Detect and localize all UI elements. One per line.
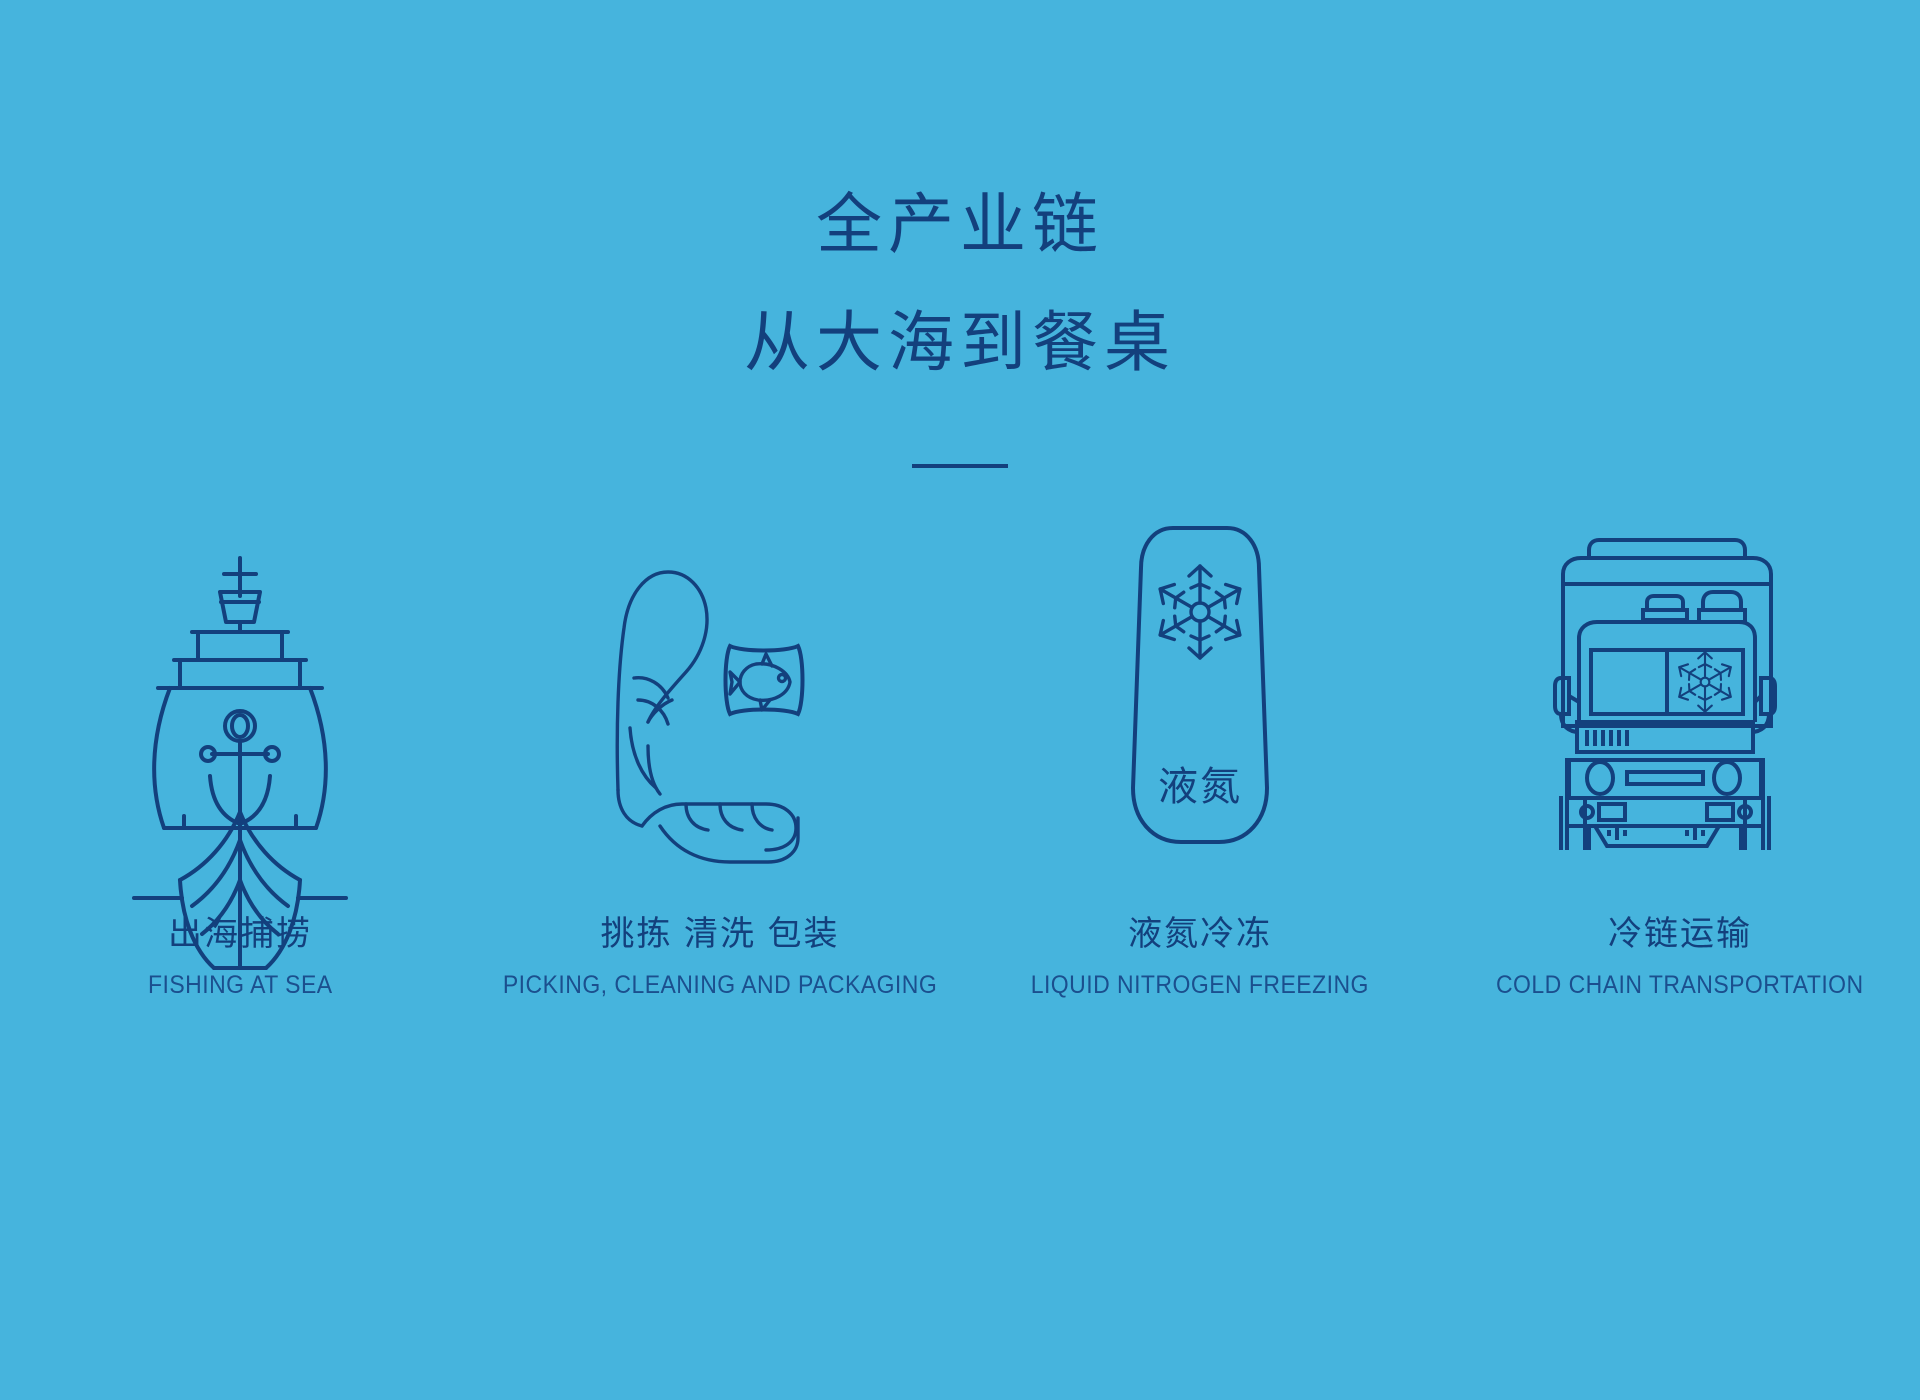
step-label-en: LIQUID NITROGEN FREEZING bbox=[1031, 968, 1369, 1002]
step-label-cn: 出海捕捞 bbox=[140, 912, 341, 956]
heading-block: 全产业链 从大海到餐桌 bbox=[0, 178, 1920, 392]
step-liquid-nitrogen-freezing[interactable]: 液氮 液氮冷冻 LIQUID NITROGEN FREEZING bbox=[960, 520, 1440, 1002]
step-labels: 液氮冷冻 LIQUID NITROGEN FREEZING bbox=[1016, 912, 1384, 1002]
snowflake-icon bbox=[1676, 652, 1734, 712]
step-cold-chain-transportation[interactable]: 冷链运输 COLD CHAIN TRANSPORTATION bbox=[1440, 520, 1920, 1002]
step-label-cn: 液氮冷冻 bbox=[1016, 912, 1384, 956]
step-label-en: FISHING AT SEA bbox=[148, 968, 333, 1002]
step-label-cn: 冷链运输 bbox=[1480, 912, 1880, 956]
step-label-en: PICKING, CLEANING AND PACKAGING bbox=[503, 968, 937, 1002]
heading-divider bbox=[912, 464, 1008, 468]
snowflake-icon bbox=[1155, 566, 1246, 658]
step-labels: 出海捕捞 FISHING AT SEA bbox=[140, 912, 341, 1002]
refrigerated-truck-icon bbox=[1555, 530, 1805, 850]
step-label-en: COLD CHAIN TRANSPORTATION bbox=[1496, 968, 1864, 1002]
grille-slats bbox=[1587, 730, 1627, 746]
heading-line-2: 从大海到餐桌 bbox=[0, 296, 1920, 392]
fishing-boat-icon bbox=[124, 550, 356, 850]
process-infographic: 全产业链 从大海到餐桌 bbox=[0, 0, 1920, 1400]
step-icon-wrap bbox=[124, 520, 356, 850]
step-labels: 挑拣 清洗 包装 PICKING, CLEANING AND PACKAGING bbox=[484, 912, 956, 1002]
fish-package-icon bbox=[726, 646, 803, 714]
heading-line-1: 全产业链 bbox=[0, 178, 1920, 274]
step-icon-wrap bbox=[590, 520, 850, 850]
steps-row: 出海捕捞 FISHING AT SEA bbox=[0, 520, 1920, 1002]
step-labels: 冷链运输 COLD CHAIN TRANSPORTATION bbox=[1480, 912, 1880, 1002]
hands-fish-package-icon bbox=[590, 550, 850, 850]
step-fishing-at-sea[interactable]: 出海捕捞 FISHING AT SEA bbox=[0, 520, 480, 1002]
step-label-cn: 挑拣 清洗 包装 bbox=[484, 912, 956, 956]
liquid-nitrogen-tank-icon: 液氮 bbox=[1125, 520, 1275, 850]
step-icon-wrap bbox=[1555, 520, 1805, 850]
heading-divider-wrap bbox=[0, 455, 1920, 473]
tank-label: 液氮 bbox=[1158, 765, 1242, 809]
step-picking-cleaning-packaging[interactable]: 挑拣 清洗 包装 PICKING, CLEANING AND PACKAGING bbox=[480, 520, 960, 1002]
step-icon-wrap: 液氮 bbox=[1125, 520, 1275, 850]
